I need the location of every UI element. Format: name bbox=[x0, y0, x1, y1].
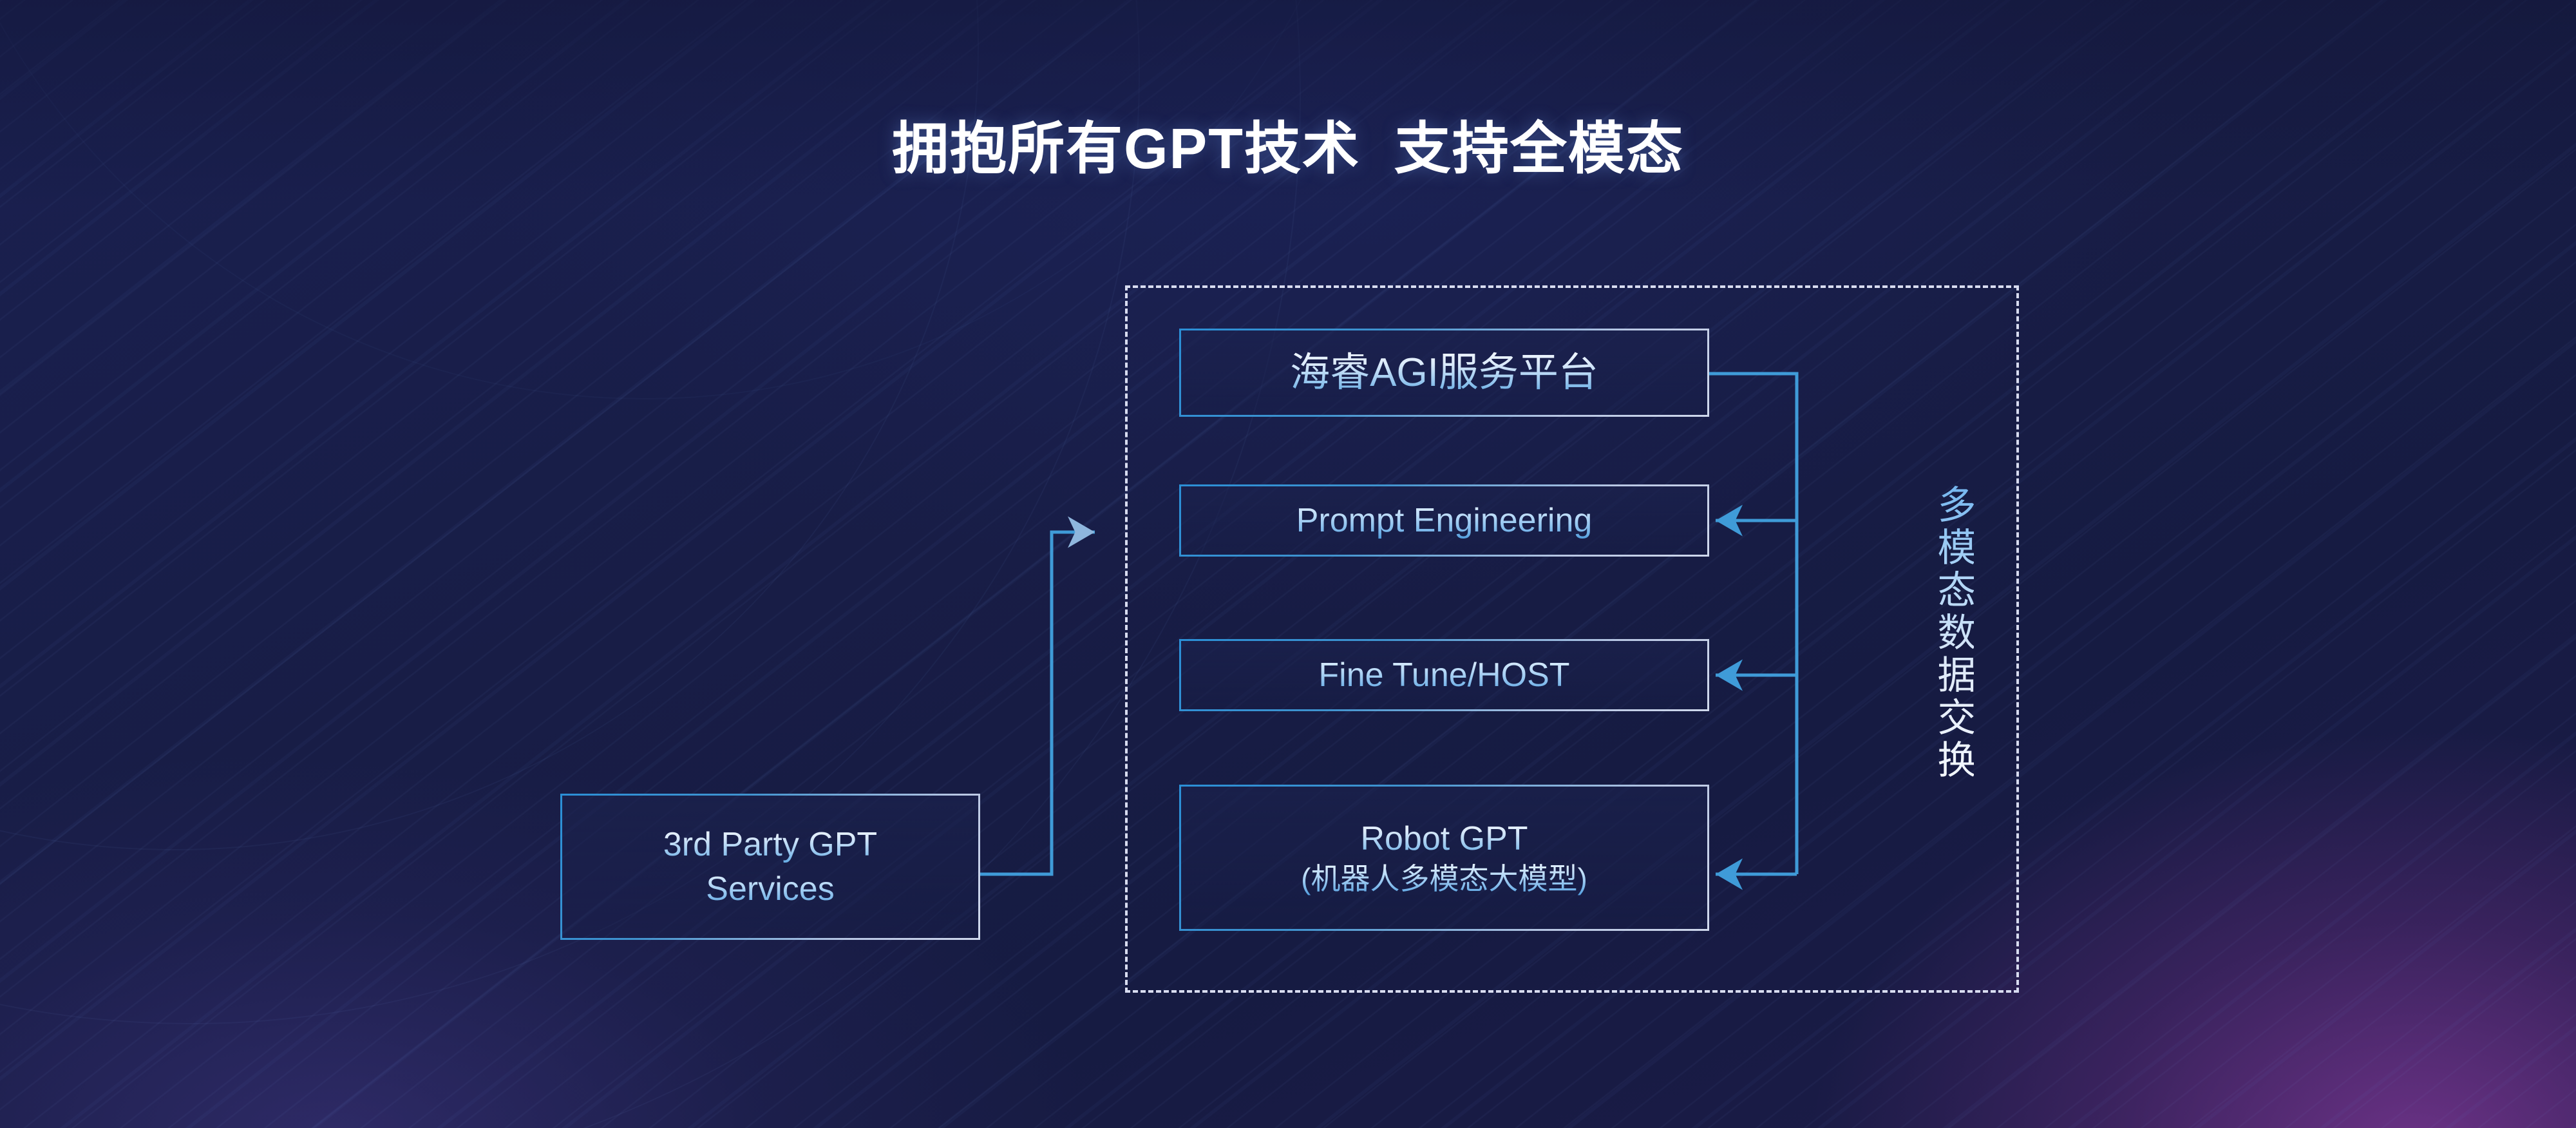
node-robot-gpt-label: Robot GPT bbox=[1360, 820, 1528, 857]
slide-canvas: 拥抱所有GPT技术 支持全模态 bbox=[0, 0, 2576, 1128]
node-agi-platform[interactable]: 海睿AGI服务平台 bbox=[1179, 329, 1709, 417]
node-prompt-engineering-label: Prompt Engineering bbox=[1296, 502, 1593, 539]
node-prompt-engineering[interactable]: Prompt Engineering bbox=[1179, 484, 1709, 557]
node-robot-gpt[interactable]: Robot GPT (机器人多模态大模型) bbox=[1179, 785, 1709, 931]
node-fine-tune-host[interactable]: Fine Tune/HOST bbox=[1179, 639, 1709, 711]
multimodal-data-exchange-label: 多模态数据交换 bbox=[1903, 484, 1974, 782]
node-robot-gpt-sublabel: (机器人多模态大模型) bbox=[1301, 863, 1587, 896]
node-agi-platform-label: 海睿AGI服务平台 bbox=[1290, 350, 1598, 395]
node-third-party-gpt-services[interactable]: 3rd Party GPT Services bbox=[560, 794, 980, 940]
node-fine-tune-host-label: Fine Tune/HOST bbox=[1318, 656, 1569, 694]
node-third-party-gpt-services-label: 3rd Party GPT bbox=[663, 826, 877, 863]
node-third-party-gpt-services-sublabel: Services bbox=[706, 870, 834, 908]
slide-title: 拥抱所有GPT技术 支持全模态 bbox=[0, 118, 2576, 180]
